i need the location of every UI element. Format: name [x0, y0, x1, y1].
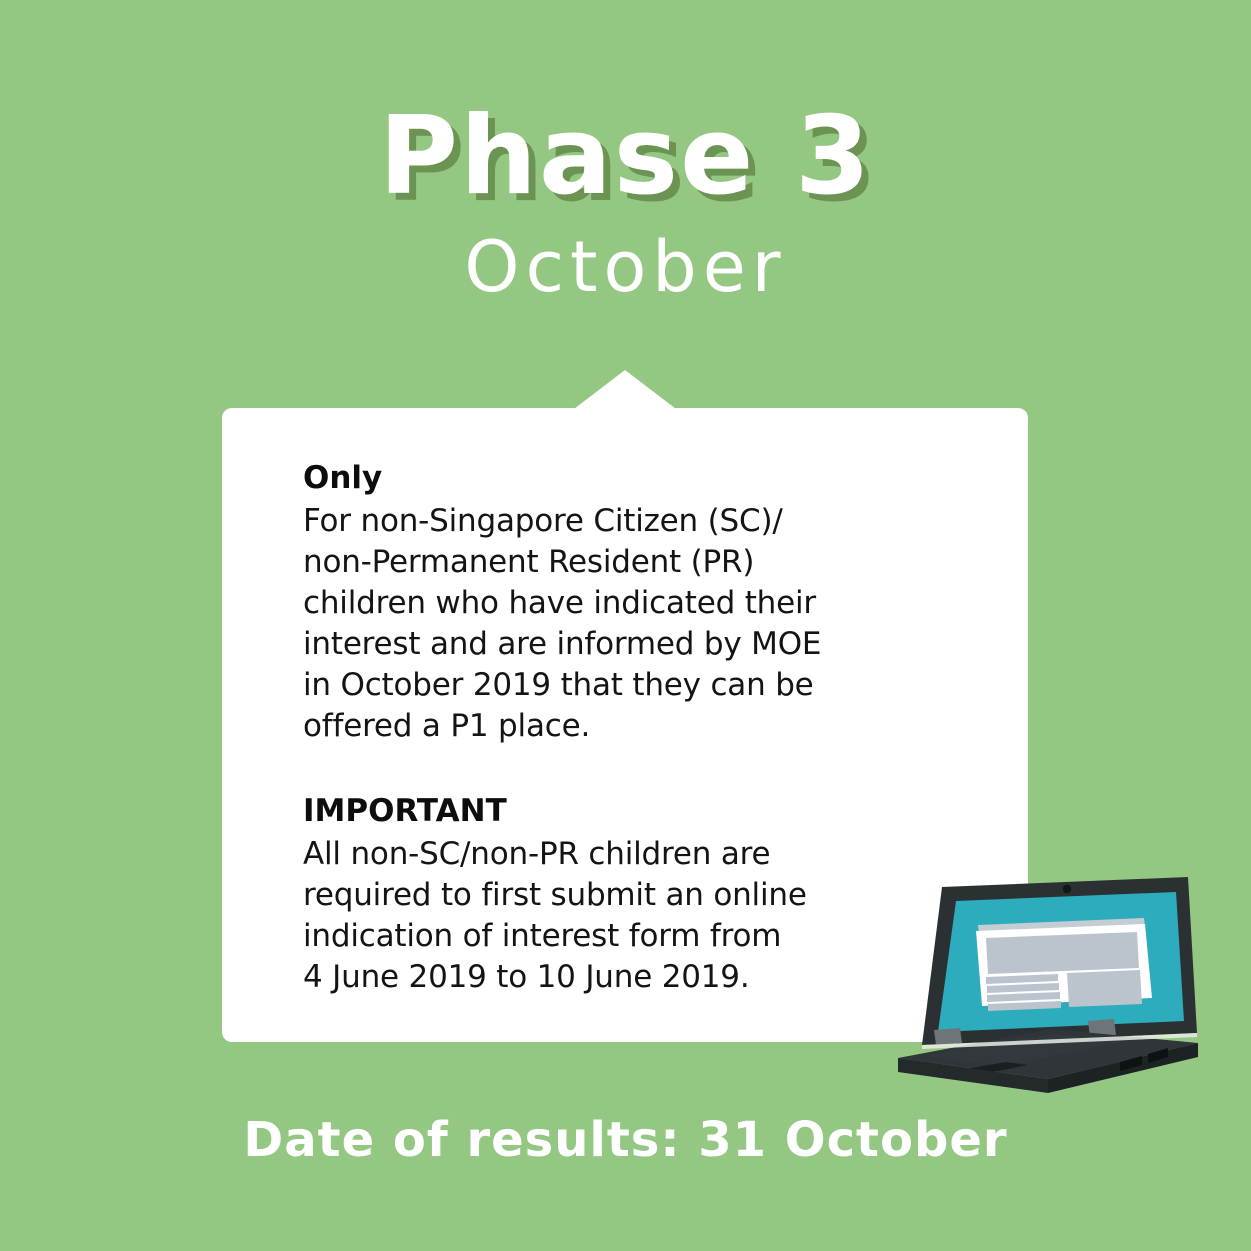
infographic-poster: Phase 3 October Only For non-Singapore C… [0, 0, 1251, 1251]
browser-window-mockup [976, 918, 1152, 1011]
speech-bubble-pointer [570, 370, 680, 412]
webcam-icon [1063, 885, 1071, 893]
laptop-illustration [790, 855, 1200, 1100]
section-heading-important: IMPORTANT [303, 793, 968, 830]
page-subtitle: October [0, 227, 1251, 308]
section-heading-only: Only [303, 460, 968, 497]
card-section-only: Only For non-Singapore Citizen (SC)/ non… [303, 460, 968, 747]
section-body-only: For non-Singapore Citizen (SC)/ non-Perm… [303, 501, 968, 746]
heading-block: Phase 3 October [0, 100, 1251, 308]
page-title: Phase 3 [0, 100, 1251, 213]
footer-date-of-results: Date of results: 31 October [0, 1112, 1251, 1168]
